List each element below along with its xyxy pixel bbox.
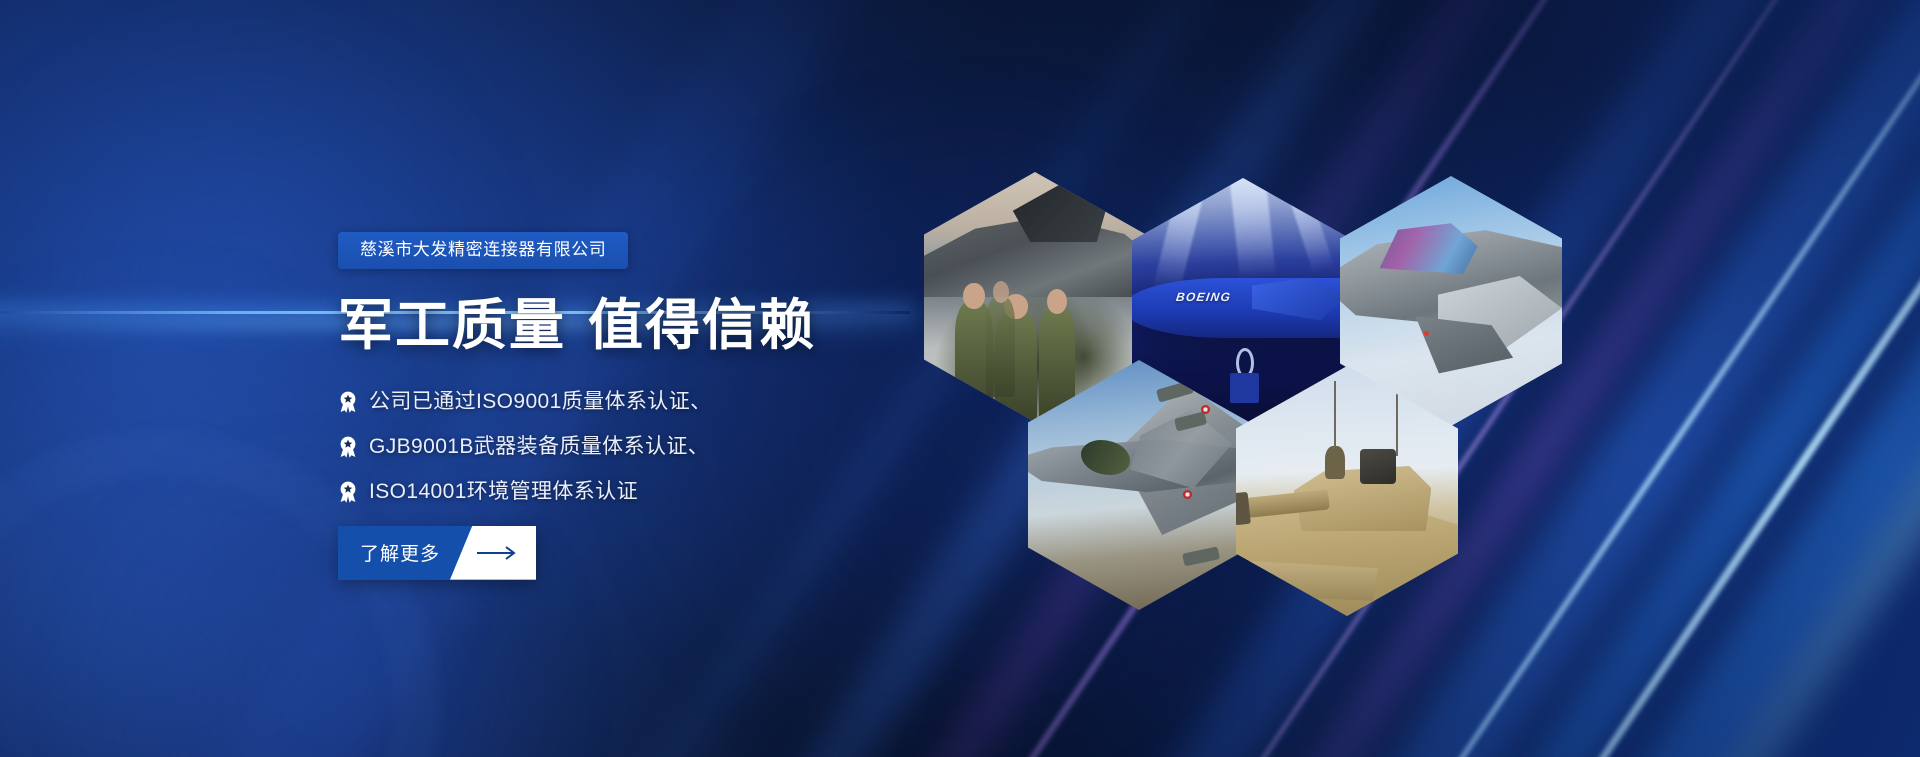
hero-banner: BOEING	[0, 0, 1920, 757]
medal-icon	[338, 436, 358, 458]
learn-more-button[interactable]: 了解更多	[338, 526, 536, 580]
arrow-right-icon	[450, 526, 536, 580]
certification-text: ISO14001环境管理体系认证	[369, 481, 638, 502]
hero-content: 慈溪市大发精密连接器有限公司 军工质量值得信赖 公司已通过ISO9001质量体系…	[338, 232, 1098, 580]
certification-text: GJB9001B武器装备质量体系认证、	[369, 436, 709, 457]
headline-part-2: 值得信赖	[588, 293, 816, 357]
company-name-badge: 慈溪市大发精密连接器有限公司	[338, 232, 628, 269]
list-item: ISO14001环境管理体系认证	[338, 481, 1098, 503]
certification-list: 公司已通过ISO9001质量体系认证、 GJB9001B武器装备质量体系认证、	[338, 391, 1098, 503]
certification-text: 公司已通过ISO9001质量体系认证、	[369, 391, 712, 412]
learn-more-label: 了解更多	[360, 526, 440, 580]
boeing-logo: BOEING	[1176, 291, 1233, 303]
list-item: GJB9001B武器装备质量体系认证、	[338, 436, 1098, 458]
medal-icon	[338, 481, 358, 503]
headline-part-1: 军工质量	[338, 293, 566, 357]
page-title: 军工质量值得信赖	[338, 295, 1098, 357]
medal-icon	[338, 391, 358, 413]
list-item: 公司已通过ISO9001质量体系认证、	[338, 391, 1098, 413]
